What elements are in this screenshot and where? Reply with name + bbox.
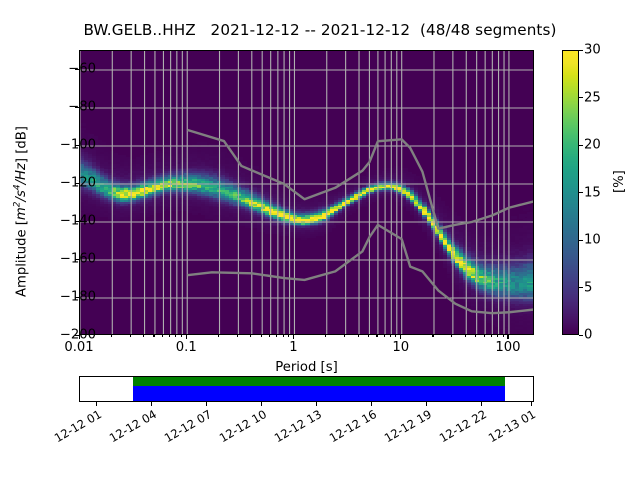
colorbar-tick-mark: [579, 240, 583, 241]
colorbar-tick-label: 10: [584, 233, 601, 248]
x-axis-minor-tick-mark: [465, 335, 466, 337]
y-axis-tick-mark: [75, 221, 79, 222]
colorbar-tick-mark: [579, 287, 583, 288]
noise-model-curves: [80, 51, 534, 335]
colorbar-tick-label: 15: [584, 185, 601, 200]
x-axis-minor-tick-mark: [368, 335, 369, 337]
time-axis-tick-mark: [206, 402, 207, 406]
x-axis-minor-tick-mark: [169, 335, 170, 337]
x-axis-minor-tick-mark: [111, 335, 112, 337]
time-axis-tick-label: 12-12 07: [153, 407, 214, 450]
x-axis-minor-tick-mark: [218, 335, 219, 337]
ppsd-histogram-axes[interactable]: [79, 50, 534, 335]
y-axis-tick-mark: [75, 183, 79, 184]
x-axis-tick-mark: [507, 335, 508, 339]
time-axis-tick-label: 12-13 01: [478, 407, 539, 450]
colorbar-tick-label: 0: [584, 328, 592, 343]
y-axis-label-suffix: ] [dB]: [14, 126, 29, 163]
time-axis-tick-mark: [316, 402, 317, 406]
colorbar-tick-label: 30: [584, 43, 601, 58]
x-axis-tick-mark: [186, 335, 187, 339]
x-axis-tick-label: 0.1: [176, 340, 197, 355]
x-axis-minor-tick-mark: [344, 335, 345, 337]
x-axis-minor-tick-mark: [175, 335, 176, 337]
x-axis-minor-tick-mark: [261, 335, 262, 337]
colorbar-tick-mark: [579, 335, 583, 336]
x-axis-tick-label: 0.01: [64, 340, 93, 355]
time-axis-tick-label: 12-12 01: [43, 407, 104, 450]
x-axis-minor-tick-mark: [276, 335, 277, 337]
y-axis-label-sup2: 2: [13, 201, 23, 207]
time-axis-tick-mark: [481, 402, 482, 406]
x-axis-label: Period [s]: [79, 360, 534, 375]
x-axis-minor-tick-mark: [384, 335, 385, 337]
x-axis-minor-tick-mark: [130, 335, 131, 337]
x-axis-minor-tick-mark: [358, 335, 359, 337]
x-axis-minor-tick-mark: [325, 335, 326, 337]
time-axis-tick-mark: [371, 402, 372, 406]
colorbar-tick-label: 25: [584, 90, 601, 105]
x-axis-minor-tick-mark: [432, 335, 433, 337]
x-axis-minor-tick-mark: [269, 335, 270, 337]
y-axis-label-prefix: Amplitude [: [14, 220, 29, 297]
x-axis-minor-tick-mark: [153, 335, 154, 337]
x-axis-minor-tick-mark: [162, 335, 163, 337]
y-axis-tick-mark: [75, 107, 79, 108]
y-axis-tick-label: −60: [68, 62, 96, 77]
x-axis-minor-tick-mark: [484, 335, 485, 337]
x-axis-tick-label: 1: [289, 340, 297, 355]
colorbar-tick-mark: [579, 97, 583, 98]
x-axis-minor-tick-mark: [503, 335, 504, 337]
time-axis-tick-mark: [261, 402, 262, 406]
y-axis-tick-mark: [75, 69, 79, 70]
x-axis-tick-label: 10: [392, 340, 409, 355]
x-axis-minor-tick-mark: [390, 335, 391, 337]
colorbar-tick-label: 20: [584, 138, 601, 153]
x-axis-minor-tick-mark: [250, 335, 251, 337]
time-axis-tick-mark: [531, 402, 532, 406]
x-axis-minor-tick-mark: [451, 335, 452, 337]
plot-title: BW.GELB..HHZ 2021-12-12 -- 2021-12-12 (4…: [0, 21, 640, 39]
x-axis-minor-tick-mark: [181, 335, 182, 337]
time-coverage-bar-bottom: [133, 386, 504, 402]
y-axis-label-slash-s: /s: [14, 190, 29, 201]
time-coverage-axes[interactable]: [79, 376, 534, 402]
x-axis-minor-tick-mark: [283, 335, 284, 337]
x-axis-tick-mark: [79, 335, 80, 339]
y-axis-label-unit-m: m: [14, 207, 29, 220]
y-axis-tick-mark: [75, 145, 79, 146]
y-axis-label-sup4: 4: [13, 184, 23, 190]
x-axis-minor-tick-mark: [475, 335, 476, 337]
time-axis-tick-mark: [426, 402, 427, 406]
time-coverage-bar-top: [133, 377, 504, 386]
x-axis-tick-mark: [293, 335, 294, 339]
x-axis-minor-tick-mark: [376, 335, 377, 337]
colorbar-tick-mark: [579, 145, 583, 146]
time-axis-tick-label: 12-12 19: [373, 407, 434, 450]
x-axis-minor-tick-mark: [491, 335, 492, 337]
colorbar-tick-mark: [579, 192, 583, 193]
colorbar[interactable]: [562, 50, 579, 335]
y-axis-tick-label: −80: [68, 100, 96, 115]
time-axis-tick-mark: [96, 402, 97, 406]
time-axis-tick-label: 12-12 13: [263, 407, 324, 450]
y-axis-tick-mark: [75, 297, 79, 298]
x-axis-tick-mark: [400, 335, 401, 339]
x-axis-minor-tick-mark: [395, 335, 396, 337]
y-axis-label-per-hz: /Hz: [14, 163, 29, 184]
x-axis-tick-label: 100: [495, 340, 520, 355]
colorbar-label: [%]: [612, 170, 627, 193]
colorbar-gradient: [563, 51, 578, 334]
y-axis-label: Amplitude [m2/s4/Hz] [dB]: [13, 126, 29, 297]
time-axis-tick-label: 12-12 16: [318, 407, 379, 450]
x-axis-minor-tick-mark: [288, 335, 289, 337]
colorbar-tick-mark: [579, 50, 583, 51]
colorbar-tick-label: 5: [584, 280, 592, 295]
time-axis-tick-label: 12-12 04: [98, 407, 159, 450]
x-axis-minor-tick-mark: [237, 335, 238, 337]
time-axis-tick-mark: [151, 402, 152, 406]
time-axis-tick-label: 12-12 10: [208, 407, 269, 450]
x-axis-minor-tick-mark: [497, 335, 498, 337]
x-axis-minor-tick-mark: [143, 335, 144, 337]
y-axis-tick-mark: [75, 259, 79, 260]
